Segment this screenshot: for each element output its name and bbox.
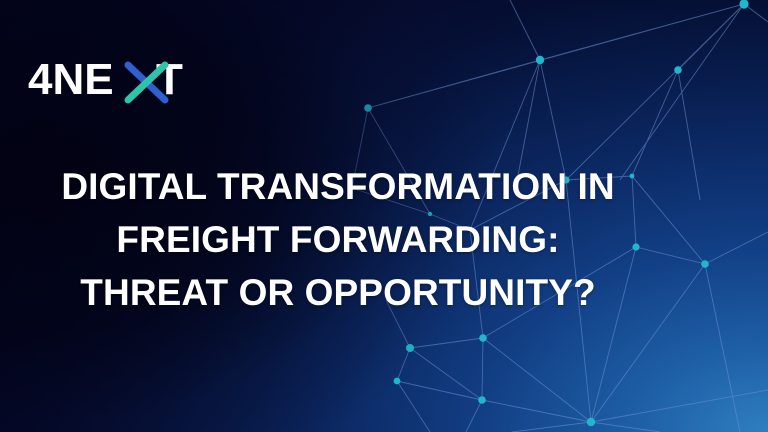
title-line-3: THREAT OR OPPORTUNITY? bbox=[0, 266, 676, 319]
logo-text-left: 4NE bbox=[28, 55, 114, 104]
presentation-slide: 4NE T DIGITAL TRANSFORMATION IN FREIGHT … bbox=[0, 0, 768, 432]
slide-title: DIGITAL TRANSFORMATION IN FREIGHT FORWAR… bbox=[0, 160, 676, 319]
title-line-1: DIGITAL TRANSFORMATION IN bbox=[0, 160, 676, 213]
brand-logo: 4NE T bbox=[28, 52, 196, 108]
title-line-2: FREIGHT FORWARDING: bbox=[0, 213, 676, 266]
